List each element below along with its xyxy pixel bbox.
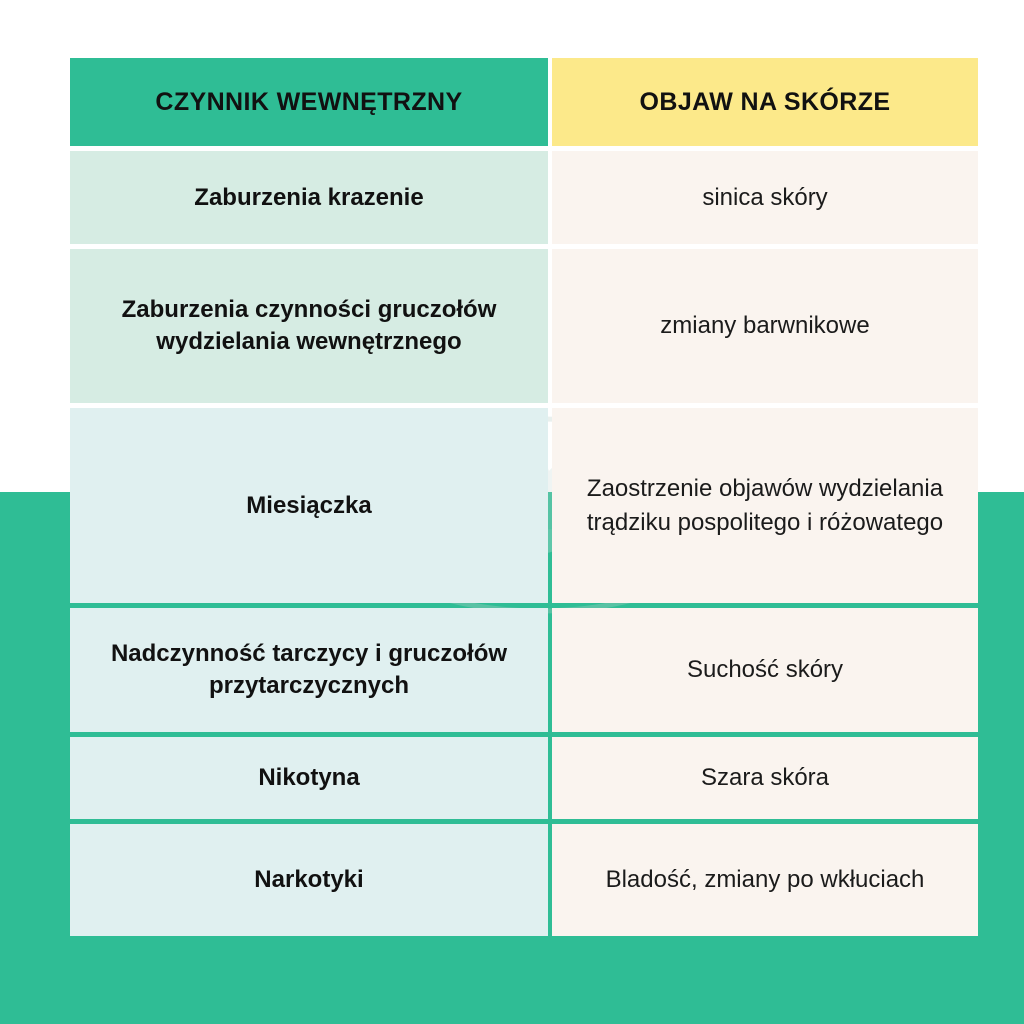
header-cell-factor: CZYNNIK WEWNĘTRZNY [70, 58, 548, 146]
factor-text: Nadczynność tarczycy i gruczołów przytar… [84, 638, 534, 702]
cell-symptom: sinica skóry [552, 151, 978, 244]
factor-text: Zaburzenia krazenie [84, 182, 534, 214]
table-row: Zaburzenia krazenie sinica skóry [70, 151, 978, 244]
factor-text: Narkotyki [84, 864, 534, 896]
table-row: Zaburzenia czynności gruczołów wydzielan… [70, 249, 978, 403]
cell-factor: Nikotyna [70, 737, 548, 819]
table-row: Nikotyna Szara skóra [70, 737, 978, 819]
cell-factor: Zaburzenia krazenie [70, 151, 548, 244]
symptom-text: Szara skóra [566, 761, 964, 794]
header-label-factor: CZYNNIK WEWNĘTRZNY [70, 88, 548, 117]
cell-symptom: zmiany barwnikowe [552, 249, 978, 403]
cell-factor: Nadczynność tarczycy i gruczołów przytar… [70, 608, 548, 732]
table-row: Nadczynność tarczycy i gruczołów przytar… [70, 608, 978, 732]
symptom-text: Bladość, zmiany po wkłuciach [566, 863, 964, 896]
factor-text: Nikotyna [84, 762, 534, 794]
header-cell-symptom: OBJAW NA SKÓRZE [552, 58, 978, 146]
header-label-symptom: OBJAW NA SKÓRZE [552, 88, 978, 117]
cell-factor: Zaburzenia czynności gruczołów wydzielan… [70, 249, 548, 403]
cell-factor: Miesiączka [70, 408, 548, 603]
cell-symptom: Zaostrzenie objawów wydzielania trądziku… [552, 408, 978, 603]
factors-symptoms-table: CZYNNIK WEWNĘTRZNY OBJAW NA SKÓRZE Zabur… [70, 58, 978, 936]
symptom-text: zmiany barwnikowe [566, 309, 964, 342]
symptom-text: Suchość skóry [566, 653, 964, 686]
cell-symptom: Szara skóra [552, 737, 978, 819]
cell-symptom: Suchość skóry [552, 608, 978, 732]
table-header-row: CZYNNIK WEWNĘTRZNY OBJAW NA SKÓRZE [70, 58, 978, 146]
table-row: Miesiączka Zaostrzenie objawów wydzielan… [70, 408, 978, 603]
table-row: Narkotyki Bladość, zmiany po wkłuciach [70, 824, 978, 936]
factor-text: Zaburzenia czynności gruczołów wydzielan… [84, 294, 534, 358]
cell-factor: Narkotyki [70, 824, 548, 936]
cell-symptom: Bladość, zmiany po wkłuciach [552, 824, 978, 936]
factor-text: Miesiączka [84, 490, 534, 522]
symptom-text: sinica skóry [566, 181, 964, 214]
symptom-text: Zaostrzenie objawów wydzielania trądziku… [566, 472, 964, 538]
